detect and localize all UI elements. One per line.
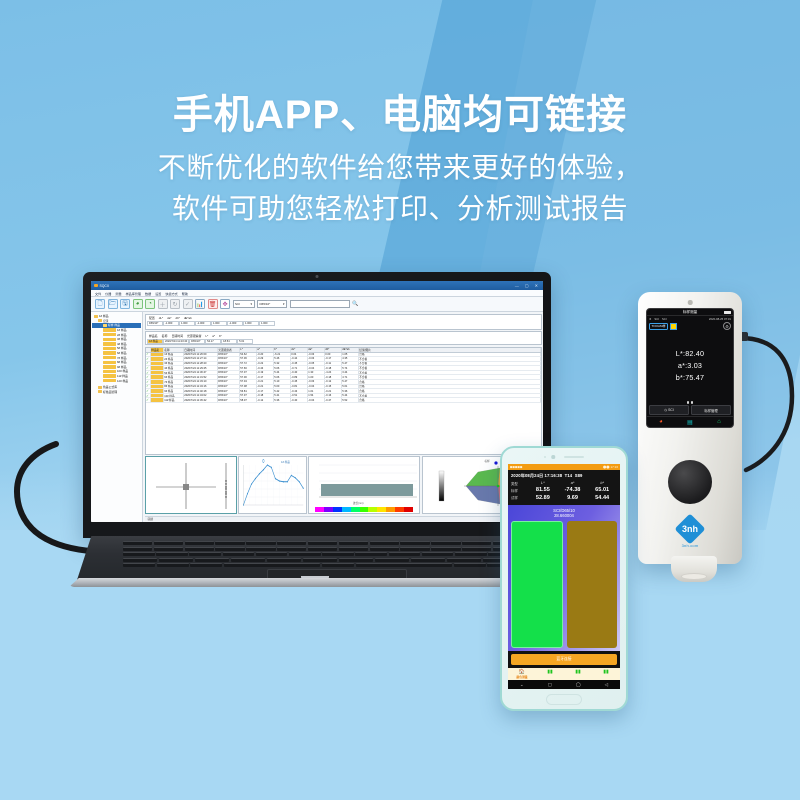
keyboard-key[interactable] [123, 563, 155, 567]
table-column-header[interactable]: 名称 [164, 348, 184, 352]
device-mode-button[interactable]: ◷ SCI [649, 405, 689, 415]
keyboard-key[interactable] [195, 558, 229, 562]
standard-value-cell: -1.000 [195, 321, 211, 326]
table-column-header[interactable]: dL* [291, 348, 308, 352]
sample-header-cell: b* [219, 334, 222, 338]
measurement-mode-select[interactable]: SCI ▾ [233, 300, 255, 308]
table-cell: -0.03 [308, 380, 325, 384]
table-cell: -0.04 [308, 385, 325, 389]
table-cell: -4.24 [325, 371, 342, 375]
table-cell: 不合格 [359, 357, 541, 361]
keyboard-row [123, 563, 553, 567]
table-cell: 2020/7/24 11:40:18 [184, 389, 218, 393]
sample-tree-panel: 1# 样品 记录 标样 样品 1# 样品2# 样品3# 样品4# 样品5# 样品… [91, 312, 143, 522]
table-cell: 4.71 [342, 375, 359, 379]
standard-value-cell: -1.000 [163, 321, 179, 326]
tree-node-standard-manager[interactable]: 标准品管理 [92, 390, 141, 395]
spectrum-band [360, 507, 369, 512]
standard-value-cell: -1.000 [227, 321, 243, 326]
phone-earpiece-area [502, 452, 626, 462]
keyboard-key[interactable] [455, 552, 487, 556]
standard-header-cell: dE*ab [184, 316, 192, 320]
keyboard-row [123, 547, 553, 551]
tree-item-label: 1# 样品 [117, 328, 126, 332]
table-cell: 2020/7/24 11:31:52 [184, 375, 218, 379]
sample-swatch-icon [103, 338, 116, 341]
sample-value-cell: 2020/7/24 11:23:40 [163, 339, 189, 344]
keyboard-key[interactable] [308, 541, 337, 545]
keyboard-key[interactable] [308, 547, 337, 551]
table-column-header[interactable]: 日期时间 [184, 348, 218, 352]
table-cell: -0.20 [257, 353, 274, 357]
device-base-foot [671, 556, 717, 582]
device-lab-values: L*:82.40 a*:3.03 b*:75.47 [647, 331, 733, 400]
device-body: 标样测量 ✲ SCI SCI 2020-08-25 07:31 TOOAM样 ⚙… [638, 292, 742, 564]
window-maximize-button[interactable]: ▢ [523, 283, 531, 288]
table-cell: 57.07 [240, 371, 257, 375]
software-status-bar: 就绪 数据 [145, 516, 542, 521]
table-cell: -0.47 [325, 398, 342, 402]
keyboard-key[interactable] [356, 563, 452, 567]
table-cell: -0.29 [257, 357, 274, 361]
tab-color-measure[interactable]: 🏠 颜色测量 [508, 668, 536, 680]
keyboard-key[interactable] [339, 547, 368, 551]
device-cable [734, 332, 800, 482]
headline-title: 手机APP、电脑均可链接 [0, 92, 800, 138]
device-brand-logo: 3nh 3nh.com [679, 518, 701, 548]
table-cell: -0.40 [291, 371, 308, 375]
sample-value-cell: 54.17 [205, 339, 221, 344]
measure-standard-icon[interactable]: ◕ [133, 299, 143, 309]
sample-swatch-icon [103, 342, 116, 345]
table-cell: -0.18 [325, 366, 342, 370]
table-cell: -0.43 [257, 366, 274, 370]
device-indicator-icon [688, 300, 693, 305]
keyboard-key[interactable] [339, 541, 368, 545]
keyboard-key[interactable] [224, 563, 320, 567]
charts-row: 1# 样品 [145, 456, 542, 514]
standard-header-cell: dL* [159, 316, 163, 320]
table-cell: 5.32 [274, 362, 291, 366]
confirm-icon[interactable]: ✓ [183, 299, 193, 309]
save-document-icon[interactable]: 🖫 [120, 299, 130, 309]
menu-item-help[interactable]: 帮助 [182, 291, 188, 296]
table-column-header[interactable]: db* [325, 348, 342, 352]
device-status-timestamp: 2020-08-25 07:31 [709, 317, 731, 321]
sample-swatch-icon [103, 374, 116, 377]
table-cell: 不合格 [359, 394, 541, 398]
menu-item-settings[interactable]: 设置 [155, 291, 161, 296]
tree-item-list: 1# 样品2# 样品3# 样品4# 样品5# 样品6# 样品7# 样品8# 样品… [92, 328, 141, 383]
sample-swatch-icon [103, 333, 116, 336]
laptop-front-edge [69, 578, 563, 587]
menu-item-sample-library[interactable]: 样品库管理 [126, 291, 141, 296]
device-nav-bar: ◕ ▤ ⌂ [647, 416, 733, 427]
headline-subtitle-line2: 软件可助您轻松打印、分析测试报告 [0, 189, 800, 230]
table-cell: 5.42 [274, 389, 291, 393]
nav-collapse-icon[interactable]: ⌄ [520, 682, 524, 688]
window-close-button[interactable]: ✕ [533, 283, 540, 288]
table-cell: 2020/7/24 11:45:42 [184, 398, 218, 402]
menu-item-measure[interactable]: 测量 [115, 291, 121, 296]
table-cell: -0.81 [291, 385, 308, 389]
illuminant-select[interactable]: D65/10° ▾ [257, 300, 287, 308]
table-cell [151, 362, 164, 366]
table-cell: -0.12 [257, 398, 274, 402]
keyboard-key[interactable] [375, 558, 409, 562]
keyboard-key[interactable] [246, 541, 275, 545]
spectrum-band [386, 507, 395, 512]
lab-scatter-chart[interactable] [145, 456, 237, 514]
table-cell: 5.47 [342, 380, 359, 384]
device-standard-manage-button[interactable]: 标样管理 [691, 405, 731, 415]
keyboard-key[interactable] [123, 552, 155, 556]
table-cell: 1.01 [308, 389, 325, 393]
keyboard-key[interactable] [339, 558, 373, 562]
standard-value-cell: 1.000 [179, 321, 195, 326]
chevron-down-icon: ▾ [283, 302, 285, 306]
laptop: SQCX — ▢ ✕ 文件 仪器 测量 样品库管理 数据 设置 快捷方式 帮助 [55, 272, 575, 622]
sample-panel-headers: 样品名名称日期时间光源观察者L*a*b* [147, 334, 539, 338]
device-screen-title: 标样测量 [683, 310, 697, 315]
measurement-table[interactable]: 样品名名称日期时间光源观察者L*a*b*dL*da*db*dE*ab结果/图片 … [145, 347, 542, 455]
settings-icon[interactable]: ⚙ [723, 322, 731, 330]
table-column-header[interactable]: L* [240, 348, 257, 352]
window-title: SQCX [100, 284, 110, 288]
table-cell: 1.54 [308, 394, 325, 398]
table-column-header[interactable]: dE*ab [342, 348, 359, 352]
keyboard-key[interactable] [389, 552, 421, 556]
table-cell: 56.81 [240, 389, 257, 393]
proximity-sensor-icon [544, 456, 546, 458]
keyboard-key[interactable] [322, 552, 354, 556]
records-icon: ▮▮ [547, 669, 553, 675]
spectrum-strip [315, 507, 413, 512]
laptop-keyboard[interactable] [123, 541, 553, 567]
software-title-bar: SQCX — ▢ ✕ [91, 281, 543, 290]
table-cell: 5.46 [274, 357, 291, 361]
keyboard-key[interactable] [462, 547, 491, 551]
keyboard-key[interactable] [400, 541, 429, 545]
table-cell: D65/10° [218, 389, 240, 393]
search-input[interactable] [290, 300, 350, 308]
chart-view-icon[interactable]: 📊 [195, 299, 205, 309]
keyboard-key[interactable] [277, 547, 306, 551]
phone-status-left: ◼◼◼◼◼ [510, 465, 522, 469]
density-bar-chart[interactable]: 波长(nm) [308, 456, 420, 514]
laptop-lid: SQCX — ▢ ✕ 文件 仪器 测量 样品库管理 数据 设置 快捷方式 帮助 [83, 272, 551, 538]
table-cell: D65/10° [218, 353, 240, 357]
table-cell: D65/10° [218, 357, 240, 361]
folder-icon [98, 386, 102, 389]
table-cell [151, 371, 164, 375]
smartphone: ◼◼◼◼◼ ⬤⬤ 17:16 2020年08月24日 17:16:38 T14 … [500, 446, 628, 711]
phone-screen: ◼◼◼◼◼ ⬤⬤ 17:16 2020年08月24日 17:16:38 T14 … [508, 464, 620, 689]
keyboard-key[interactable] [123, 541, 152, 545]
table-cell: -0.43 [291, 389, 308, 393]
keyboard-key[interactable] [411, 558, 445, 562]
tree-node-formula-library-label: 色差公式库 [103, 385, 117, 389]
keyboard-key[interactable] [370, 541, 399, 545]
table-row[interactable]: ✓11# 样品2020/7/24 11:45:42D65/10°58.07-0.… [146, 398, 541, 403]
app-icon [94, 284, 98, 288]
laptop-keyboard-deck [77, 536, 555, 580]
measured-color-chip [670, 323, 677, 330]
header-l-star: L* [528, 481, 558, 485]
tree-node-records-label: 记录 [103, 319, 109, 323]
table-cell: 3.44 [342, 371, 359, 375]
menu-item-data[interactable]: 数据 [145, 291, 151, 296]
table-cell: 不合格 [359, 366, 541, 370]
tree-item-label: 3# 样品 [117, 337, 126, 341]
keyboard-key[interactable] [123, 558, 157, 562]
table-column-header[interactable]: da* [308, 348, 325, 352]
tab-color-measure-label: 颜色测量 [516, 675, 527, 679]
table-cell: -0.04 [308, 366, 325, 370]
table-cell: 1.33 [308, 371, 325, 375]
table-cell: 5.74 [342, 366, 359, 370]
table-cell: -0.17 [325, 357, 342, 361]
connect-device-icon[interactable]: ✥ [220, 299, 230, 309]
tab-standard[interactable]: ▮▮ 标准 [564, 668, 592, 680]
table-cell: 1.00 [308, 375, 325, 379]
sample-swatch-icon [103, 361, 116, 364]
table-cell: -0.51 [291, 394, 308, 398]
table-column-header[interactable]: 结果/图片 [359, 348, 541, 352]
sample-b-value: 54.44 [587, 495, 617, 501]
folder-icon [98, 390, 102, 393]
delta-e-value: 28.660004 [511, 513, 617, 519]
tree-item-label: 2# 样品 [117, 333, 126, 337]
tree-item[interactable]: 12# 样品 [92, 378, 141, 383]
sample-swatch-icon [103, 379, 116, 382]
keyboard-key[interactable] [231, 558, 265, 562]
bluetooth-icon: ✲ [649, 317, 651, 321]
table-cell [151, 357, 164, 361]
nav-home-icon[interactable]: ◯ [576, 682, 581, 688]
table-cell: 5.41 [274, 394, 291, 398]
table-cell [151, 380, 164, 384]
table-column-header[interactable]: b* [274, 348, 291, 352]
keyboard-key[interactable] [422, 552, 454, 556]
table-cell: -0.04 [308, 398, 325, 402]
keyboard-key[interactable] [154, 547, 183, 551]
keyboard-key[interactable] [246, 547, 275, 551]
keyboard-key[interactable] [447, 558, 481, 562]
table-cell [151, 394, 164, 398]
sample-swatch-icon [103, 370, 116, 373]
phone-status-right: ⬤⬤ 17:16 [603, 465, 618, 469]
measure-sample-icon[interactable]: ◔ [145, 299, 155, 309]
folder-icon [94, 315, 98, 318]
standard-header-cell: da* [167, 316, 171, 320]
table-cell: 合格 [359, 389, 541, 393]
window-minimize-button[interactable]: — [513, 283, 521, 288]
keyboard-key[interactable] [454, 563, 486, 567]
table-column-header[interactable]: a* [257, 348, 274, 352]
new-document-icon[interactable]: 🗋 [95, 299, 105, 309]
measurement-column-headers: 类型 L* a* b* [511, 481, 617, 486]
standard-icon: ▮▮ [575, 669, 581, 675]
measurement-mode-value: SCI [235, 302, 240, 306]
sample-value-cell: 18.54 [221, 339, 237, 344]
device-mode-button-label: SCI [668, 408, 674, 412]
device-mode-pill[interactable]: TOOAM样 [649, 323, 668, 330]
keyboard-key[interactable] [431, 541, 460, 545]
keyboard-key[interactable] [123, 547, 152, 551]
table-cell: 8# 样品 [164, 385, 184, 389]
headline-subtitle-line1: 不断优化的软件给您带来更好的体验， [0, 148, 800, 189]
keyboard-key[interactable] [189, 552, 221, 556]
keyboard-key[interactable] [400, 547, 429, 551]
table-cell: -0.18 [325, 375, 342, 379]
sample-header-cell: 名称 [162, 334, 168, 338]
measurement-code-a: T14 [565, 473, 573, 478]
search-icon[interactable]: 🔍 [352, 301, 358, 307]
keyboard-key[interactable] [157, 563, 189, 567]
phone-home-button[interactable] [546, 694, 582, 705]
software-body: 1# 样品 记录 标样 样品 1# 样品2# 样品3# 样品4# 样品5# 样品… [91, 312, 543, 522]
spectrum-band [324, 507, 333, 512]
reflectance-legend: 1# 样品 [281, 460, 290, 464]
nav-back-icon[interactable]: ◁ [605, 682, 608, 688]
keyboard-key[interactable] [322, 563, 354, 567]
table-cell: -0.05 [308, 362, 325, 366]
table-cell: 5.06 [274, 366, 291, 370]
delete-record-icon[interactable]: 🗑 [208, 299, 218, 309]
keyboard-key[interactable] [159, 558, 193, 562]
chromaticity-legend-standard: 标样 [485, 459, 490, 463]
table-cell: D65/10° [218, 371, 240, 375]
table-cell: -0.44 [291, 357, 308, 361]
table-cell: 2020/7/24 11:34:16 [184, 385, 218, 389]
spectrum-band [351, 507, 360, 512]
keyboard-key[interactable] [185, 547, 214, 551]
keyboard-key[interactable] [154, 541, 183, 545]
keyboard-key[interactable] [355, 552, 387, 556]
laptop-webcam-icon [316, 275, 319, 278]
table-cell [151, 353, 164, 357]
spectrum-band [368, 507, 377, 512]
table-cell: 58.07 [240, 398, 257, 402]
sample-panel-cells: 1# 样品2020/7/24 11:23:40D65/10°54.1718.54… [147, 339, 539, 344]
table-body: ✓1# 样品2020/7/24 11:26:09D65/10°54.62-0.2… [146, 353, 541, 404]
tree-item-label: 8# 样品 [117, 360, 126, 364]
table-cell: 4# 样品 [164, 366, 184, 370]
keyboard-key[interactable] [223, 552, 255, 556]
table-cell: 57.04 [240, 380, 257, 384]
keyboard-key[interactable] [190, 563, 222, 567]
earpiece-speaker [564, 456, 584, 459]
table-cell: 6# 样品 [164, 375, 184, 379]
keyboard-key[interactable] [215, 547, 244, 551]
device-a-value: a*:3.03 [678, 361, 702, 370]
table-column-header[interactable]: 样品名 [151, 348, 164, 352]
table-cell: 5.44 [274, 371, 291, 375]
device-measure-dial[interactable] [668, 460, 712, 504]
records-icon[interactable]: ▤ [687, 419, 693, 426]
phone-nav-bar: ⌄ ▢ ◯ ◁ [508, 680, 620, 689]
keyboard-key[interactable] [256, 552, 288, 556]
device-l-value: L*:82.40 [676, 349, 704, 358]
menu-item-shortcuts[interactable]: 快捷方式 [165, 291, 177, 296]
standard-panel-headers: 配置dL*da*db*dE*ab [147, 316, 539, 320]
standard-panel-cells: D65/10°-1.0001.000-1.0001.000-1.0001.000… [147, 321, 539, 326]
device-control-row: TOOAM样 ⚙ [647, 321, 733, 331]
tab-records[interactable]: ▮▮ 记录 [536, 668, 564, 680]
table-cell: 2020/7/24 11:30:47 [184, 371, 218, 375]
refresh-icon[interactable]: ↻ [170, 299, 180, 309]
sample-l-value: 52.89 [528, 495, 558, 501]
keyboard-key[interactable] [431, 547, 460, 551]
keyboard-key[interactable] [303, 558, 337, 562]
tree-item-label: 5# 样品 [117, 346, 126, 350]
sample-swatch-icon [103, 351, 116, 354]
table-cell: 1# 样品 [164, 353, 184, 357]
header-a-star: a* [558, 481, 588, 485]
phone-color-compare-panel: SCI/D65/10 28.660004 [508, 505, 620, 652]
keyboard-row [123, 558, 553, 562]
table-cell [151, 398, 164, 402]
table-cell: -0.21 [257, 380, 274, 384]
table-cell: 57.72 [240, 362, 257, 366]
keyboard-key[interactable] [267, 558, 301, 562]
home-icon[interactable]: ⌂ [717, 419, 721, 425]
folder-icon [103, 324, 107, 327]
reflectance-curve-chart[interactable]: 1# 样品 [238, 456, 307, 514]
add-record-icon[interactable]: ＋ [158, 299, 168, 309]
measurement-type-label: 类型 [511, 481, 528, 486]
table-cell: -0.11 [325, 362, 342, 366]
software-menu-bar: 文件 仪器 测量 样品库管理 数据 设置 快捷方式 帮助 [91, 290, 543, 297]
keyboard-key[interactable] [370, 547, 399, 551]
table-cell: 5.52 [342, 398, 359, 402]
table-cell: 5.10 [274, 380, 291, 384]
sample-header-cell: 样品名 [149, 334, 158, 338]
nav-recents-icon[interactable]: ▢ [548, 682, 552, 688]
sample-value-cell: D65/10° [189, 339, 205, 344]
table-cell: 合格 [359, 398, 541, 402]
standard-value-cell: 1.000 [259, 321, 275, 326]
keyboard-key[interactable] [289, 552, 321, 556]
menu-item-file[interactable]: 文件 [95, 291, 101, 296]
table-column-header[interactable]: 光源观察者 [218, 348, 240, 352]
table-cell: 2020/7/24 11:29:25 [184, 366, 218, 370]
table-cell: 5.47 [342, 362, 359, 366]
menu-item-instrument[interactable]: 仪器 [105, 291, 111, 296]
battery-icon [724, 311, 731, 314]
spectrum-band [377, 507, 386, 512]
keyboard-key[interactable] [156, 552, 188, 556]
table-cell [151, 389, 164, 393]
bluetooth-connect-button[interactable]: 蓝牙连接 [511, 654, 617, 665]
keyboard-key[interactable] [185, 541, 214, 545]
keyboard-key[interactable] [462, 541, 491, 545]
table-cell: 3# 样品 [164, 362, 184, 366]
table-cell: 54.62 [240, 353, 257, 357]
table-cell: 7# 样品 [164, 380, 184, 384]
measure-icon[interactable]: ◕ [659, 419, 663, 425]
tree-node-root-label: 1# 样品 [99, 314, 108, 318]
open-document-icon[interactable]: 🗁 [108, 299, 118, 309]
keyboard-key[interactable] [277, 541, 306, 545]
table-cell: 不合格 [359, 375, 541, 379]
table-cell: 1.05 [342, 353, 359, 357]
standard-value-cell: D65/10° [147, 321, 163, 326]
keyboard-key[interactable] [215, 541, 244, 545]
sample-swatch-icon [103, 356, 116, 359]
tab-settings[interactable]: ▮▮ 设置 [592, 668, 620, 680]
